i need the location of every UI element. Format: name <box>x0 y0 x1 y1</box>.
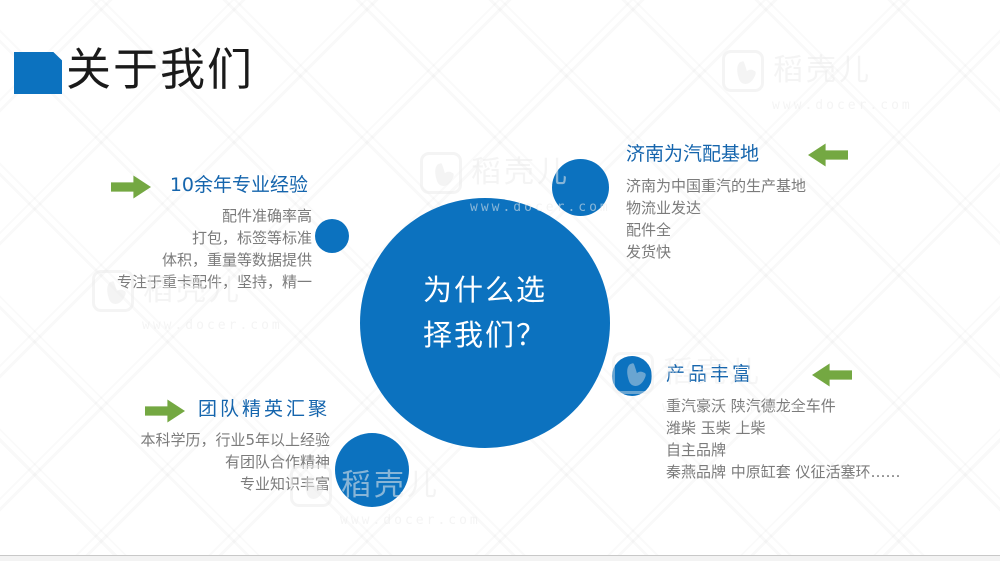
block-team: 团队精英汇聚 本科学历，行业5年以上经验 有团队合作精神 专业知识丰富 <box>0 396 340 495</box>
block-experience-heading: 10余年专业经验 <box>0 172 330 198</box>
center-circle-line-1: 为什么选 <box>360 268 610 313</box>
block-products-line-3: 自主品牌 <box>666 439 996 461</box>
decorative-circle-top-right <box>552 159 609 216</box>
block-base-line-1: 济南为中国重汽的生产基地 <box>626 175 966 197</box>
slide-bottom-strip <box>0 556 1000 561</box>
block-base-line-4: 发货快 <box>626 241 966 263</box>
block-products-line-1: 重汽豪沃 陕汽德龙全车件 <box>666 395 996 417</box>
block-experience-line-4: 专注于重卡配件，坚持，精一 <box>0 271 312 293</box>
block-experience-line-3: 体积，重量等数据提供 <box>0 249 312 271</box>
center-circle: 为什么选 择我们？ <box>360 198 610 448</box>
block-products-heading: 产品丰富 <box>666 361 996 387</box>
decorative-circle-bottom-left <box>335 433 409 507</box>
watermark-top-right: 稻壳儿 www.docer.com <box>722 50 948 128</box>
block-base-body: 济南为中国重汽的生产基地 物流业发达 配件全 发货快 <box>626 175 966 263</box>
block-base-line-3: 配件全 <box>626 219 966 241</box>
block-products-line-4: 秦燕品牌 中原缸套 仪征活塞环…… <box>666 461 996 483</box>
watermark-brand: 稻壳儿 <box>773 54 872 88</box>
block-team-heading: 团队精英汇聚 <box>0 396 340 422</box>
docer-logo-icon <box>722 50 764 92</box>
block-base: 济南为汽配基地 济南为中国重汽的生产基地 物流业发达 配件全 发货快 <box>626 141 966 263</box>
docer-logo-icon <box>420 152 462 194</box>
watermark-url: www.docer.com <box>340 513 516 528</box>
block-experience: 10余年专业经验 配件准确率高 打包，标签等标准 体积，重量等数据提供 专注于重… <box>0 172 330 293</box>
page-title: 关于我们 <box>66 42 254 98</box>
block-products-body: 重汽豪沃 陕汽德龙全车件 潍柴 玉柴 上柴 自主品牌 秦燕品牌 中原缸套 仪征活… <box>666 395 996 483</box>
block-products: 产品丰富 重汽豪沃 陕汽德龙全车件 潍柴 玉柴 上柴 自主品牌 秦燕品牌 中原缸… <box>666 361 996 483</box>
block-team-line-2: 有团队合作精神 <box>0 451 330 473</box>
title-marker-shape <box>14 52 62 94</box>
block-team-line-3: 专业知识丰富 <box>0 473 330 495</box>
watermark-url: www.docer.com <box>772 98 948 113</box>
block-products-line-2: 潍柴 玉柴 上柴 <box>666 417 996 439</box>
block-base-heading: 济南为汽配基地 <box>626 141 966 167</box>
block-team-body: 本科学历，行业5年以上经验 有团队合作精神 专业知识丰富 <box>0 429 340 495</box>
block-experience-line-2: 打包，标签等标准 <box>0 227 312 249</box>
decorative-circle-mid-right <box>612 356 652 396</box>
center-circle-line-2: 择我们？ <box>360 313 610 358</box>
block-base-line-2: 物流业发达 <box>626 197 966 219</box>
block-experience-line-1: 配件准确率高 <box>0 205 312 227</box>
watermark-url: www.docer.com <box>142 318 318 333</box>
block-team-line-1: 本科学历，行业5年以上经验 <box>0 429 330 451</box>
slide-canvas: 关于我们 为什么选 择我们？ 10余年专业经验 配件准确率高 打包，标签等标准 … <box>0 0 1000 561</box>
block-experience-body: 配件准确率高 打包，标签等标准 体积，重量等数据提供 专注于重卡配件，坚持，精一 <box>0 205 330 293</box>
center-circle-label: 为什么选 择我们？ <box>360 268 610 358</box>
